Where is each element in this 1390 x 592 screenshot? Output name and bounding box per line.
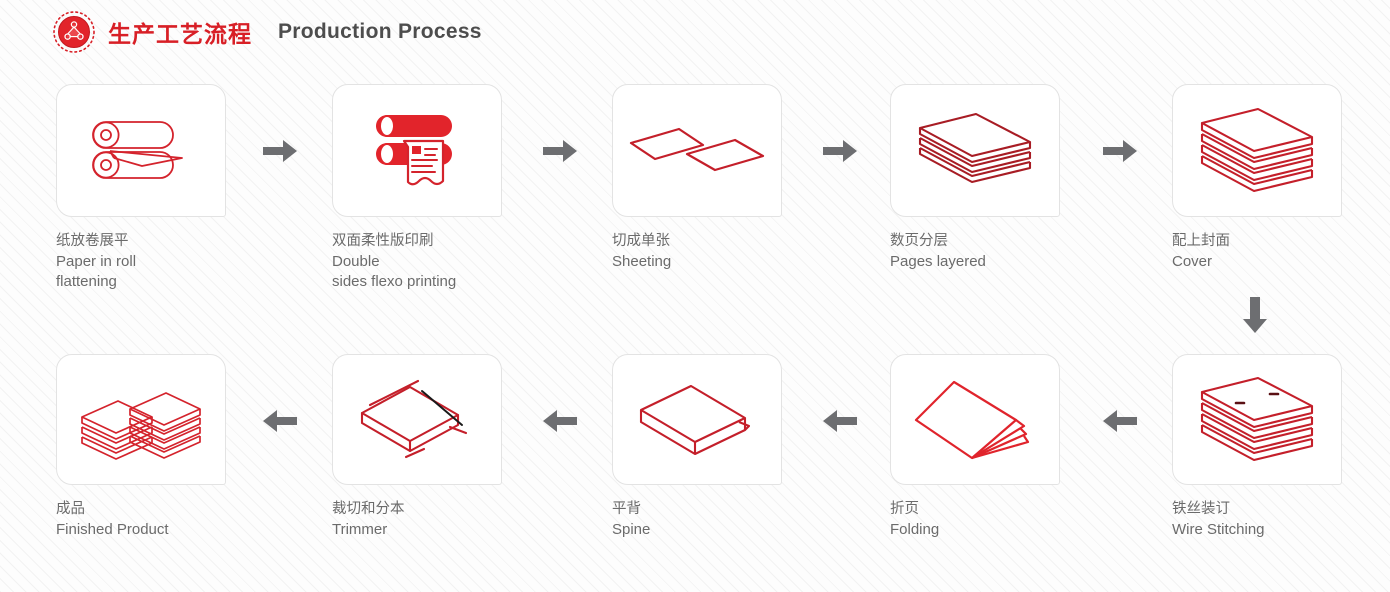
step-label-en-1: Double xyxy=(332,252,592,273)
step-card[interactable] xyxy=(332,84,502,217)
step-label-cn: 双面柔性版印刷 xyxy=(332,231,592,252)
process-step-trimmer[interactable]: 裁切和分本 Trimmer xyxy=(332,354,502,540)
page-title-cn: 生产工艺流程 xyxy=(108,15,252,49)
arrow-right-icon xyxy=(543,140,577,162)
spine-book-icon xyxy=(635,380,759,460)
finished-product-stacks-icon xyxy=(74,371,208,469)
step-card[interactable] xyxy=(332,354,502,485)
arrow-right-icon xyxy=(1103,140,1137,162)
arrow-right-icon xyxy=(263,140,297,162)
process-step-pages-layered[interactable]: 数页分层 Pages layered xyxy=(890,84,1060,272)
step-label-cn: 切成单张 xyxy=(612,231,872,252)
step-label-en-1: Folding xyxy=(890,520,1150,541)
step-label-en-2: flattening xyxy=(56,272,316,293)
step-labels: 数页分层 Pages layered xyxy=(890,231,1150,272)
step-card[interactable] xyxy=(890,84,1060,217)
step-label-en-1: Wire Stitching xyxy=(1172,520,1390,541)
step-label-en-1: Paper in roll xyxy=(56,252,316,273)
company-seal-icon xyxy=(52,10,96,54)
step-label-en-2: sides flexo printing xyxy=(332,272,592,293)
process-step-finished-product[interactable]: 成品 Finished Product xyxy=(56,354,226,540)
step-label-cn: 成品 xyxy=(56,499,316,520)
cover-stack-icon xyxy=(1196,105,1318,197)
process-step-sheeting[interactable]: 切成单张 Sheeting xyxy=(612,84,782,272)
page-header: 生产工艺流程 Production Process xyxy=(52,10,482,54)
process-step-paper-in-roll-flattening[interactable]: 纸放卷展平 Paper in roll flattening xyxy=(56,84,226,293)
step-labels: 配上封面 Cover xyxy=(1172,231,1390,272)
process-row-top: 纸放卷展平 Paper in roll flattening xyxy=(0,84,1390,294)
process-step-spine[interactable]: 平背 Spine xyxy=(612,354,782,540)
step-label-en-1: Sheeting xyxy=(612,252,872,273)
paper-roll-flattening-icon xyxy=(86,108,196,194)
page-title-en: Production Process xyxy=(278,20,482,44)
step-card[interactable] xyxy=(56,354,226,485)
step-labels: 双面柔性版印刷 Double sides flexo printing xyxy=(332,231,592,293)
step-labels: 折页 Folding xyxy=(890,499,1150,540)
step-label-cn: 折页 xyxy=(890,499,1150,520)
step-label-en-1: Cover xyxy=(1172,252,1390,273)
step-label-cn: 配上封面 xyxy=(1172,231,1390,252)
step-labels: 切成单张 Sheeting xyxy=(612,231,872,272)
arrow-down-icon xyxy=(1243,297,1267,333)
step-label-en-1: Pages layered xyxy=(890,252,1150,273)
step-card[interactable] xyxy=(612,84,782,217)
flexo-printing-roller-icon xyxy=(365,105,469,197)
process-step-folding[interactable]: 折页 Folding xyxy=(890,354,1060,540)
process-step-wire-stitching[interactable]: 铁丝装订 Wire Stitching xyxy=(1172,354,1342,540)
step-labels: 平背 Spine xyxy=(612,499,872,540)
step-label-en-1: Finished Product xyxy=(56,520,316,541)
step-card[interactable] xyxy=(890,354,1060,485)
step-label-en-1: Trimmer xyxy=(332,520,592,541)
step-label-cn: 平背 xyxy=(612,499,872,520)
step-label-cn: 纸放卷展平 xyxy=(56,231,316,252)
step-card[interactable] xyxy=(1172,84,1342,217)
process-step-cover[interactable]: 配上封面 Cover xyxy=(1172,84,1342,272)
arrow-left-icon xyxy=(1103,410,1137,432)
step-label-cn: 铁丝装订 xyxy=(1172,499,1390,520)
pages-layered-stack-icon xyxy=(914,110,1036,192)
trimmer-blade-icon xyxy=(354,375,480,465)
folding-sheets-icon xyxy=(912,374,1038,466)
arrow-left-icon xyxy=(543,410,577,432)
process-step-double-sides-flexo-printing[interactable]: 双面柔性版印刷 Double sides flexo printing xyxy=(332,84,502,293)
step-label-cn: 数页分层 xyxy=(890,231,1150,252)
arrow-left-icon xyxy=(823,410,857,432)
sheeting-sheets-icon xyxy=(627,116,767,186)
step-card[interactable] xyxy=(56,84,226,217)
arrow-left-icon xyxy=(263,410,297,432)
step-labels: 铁丝装订 Wire Stitching xyxy=(1172,499,1390,540)
step-card[interactable] xyxy=(612,354,782,485)
process-row-bottom: 成品 Finished Product xyxy=(0,354,1390,564)
step-card[interactable] xyxy=(1172,354,1342,485)
step-label-cn: 裁切和分本 xyxy=(332,499,592,520)
step-labels: 成品 Finished Product xyxy=(56,499,316,540)
step-labels: 纸放卷展平 Paper in roll flattening xyxy=(56,231,316,293)
step-labels: 裁切和分本 Trimmer xyxy=(332,499,592,540)
step-label-en-1: Spine xyxy=(612,520,872,541)
arrow-right-icon xyxy=(823,140,857,162)
wire-stitching-stack-icon xyxy=(1196,374,1318,466)
